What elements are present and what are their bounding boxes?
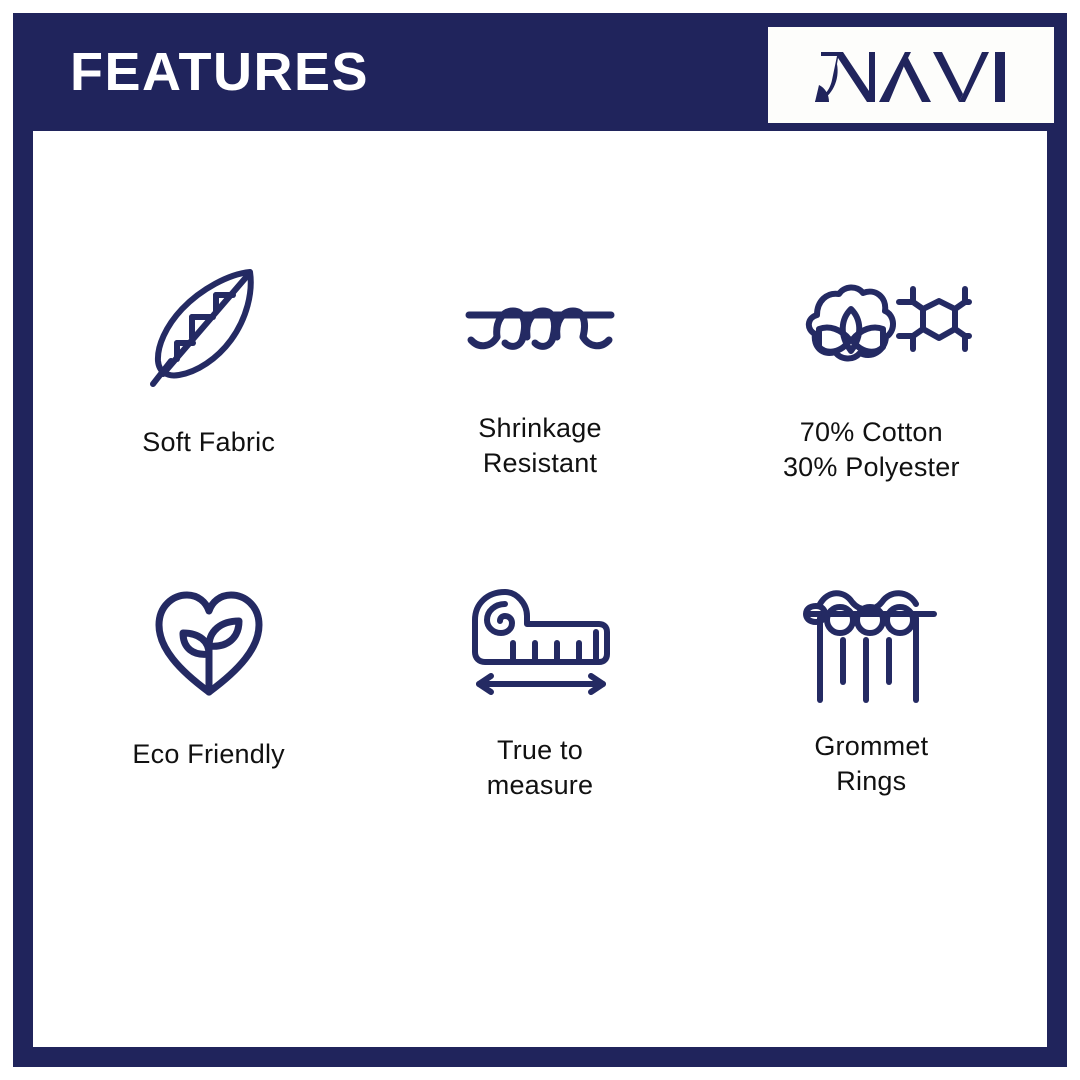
navi-logo-icon xyxy=(813,44,1009,106)
feature-label: 70% Cotton 30% Polyester xyxy=(783,415,960,485)
heart-sprout-icon xyxy=(149,588,269,700)
feature-item-shrinkage-resistant: Shrinkage Resistant xyxy=(374,261,705,579)
twisted-rope-icon xyxy=(465,291,615,361)
feature-icon-wrapper xyxy=(804,579,938,709)
cotton-boll-shape xyxy=(809,287,893,358)
feature-label: Shrinkage Resistant xyxy=(478,411,601,481)
feature-label: Soft Fabric xyxy=(142,425,275,460)
feature-item-true-to-measure: True to measure xyxy=(374,579,705,897)
feature-item-eco-friendly: Eco Friendly xyxy=(43,579,374,897)
polyester-molecule-shape xyxy=(899,289,969,349)
feature-item-soft-fabric: Soft Fabric xyxy=(43,261,374,579)
feature-icon-wrapper xyxy=(149,579,269,709)
feature-item-grommet-rings: Grommet Rings xyxy=(706,579,1037,897)
curtain-grommet-rings-icon xyxy=(804,582,938,706)
feature-icon-wrapper xyxy=(149,261,269,391)
feature-icon-wrapper xyxy=(465,261,615,391)
feature-label: Grommet Rings xyxy=(814,729,928,799)
page-title: FEATURES xyxy=(70,45,369,99)
feature-item-fabric-composition: 70% Cotton 30% Polyester xyxy=(706,261,1037,579)
feature-label: Eco Friendly xyxy=(132,737,284,772)
feature-grid: Soft Fabric S xyxy=(33,131,1047,1047)
brand-logo-plate xyxy=(768,27,1054,123)
measuring-tape-icon xyxy=(467,586,613,702)
cotton-boll-and-polyester-molecule-icon xyxy=(771,281,971,371)
feather-icon xyxy=(149,262,269,390)
feature-icon-wrapper xyxy=(467,579,613,709)
features-content-card: Soft Fabric S xyxy=(33,131,1047,1047)
feature-label: True to measure xyxy=(487,733,593,803)
feature-icon-wrapper xyxy=(771,261,971,391)
header-band: FEATURES xyxy=(13,13,1067,131)
poster-frame: FEATURES xyxy=(13,13,1067,1067)
